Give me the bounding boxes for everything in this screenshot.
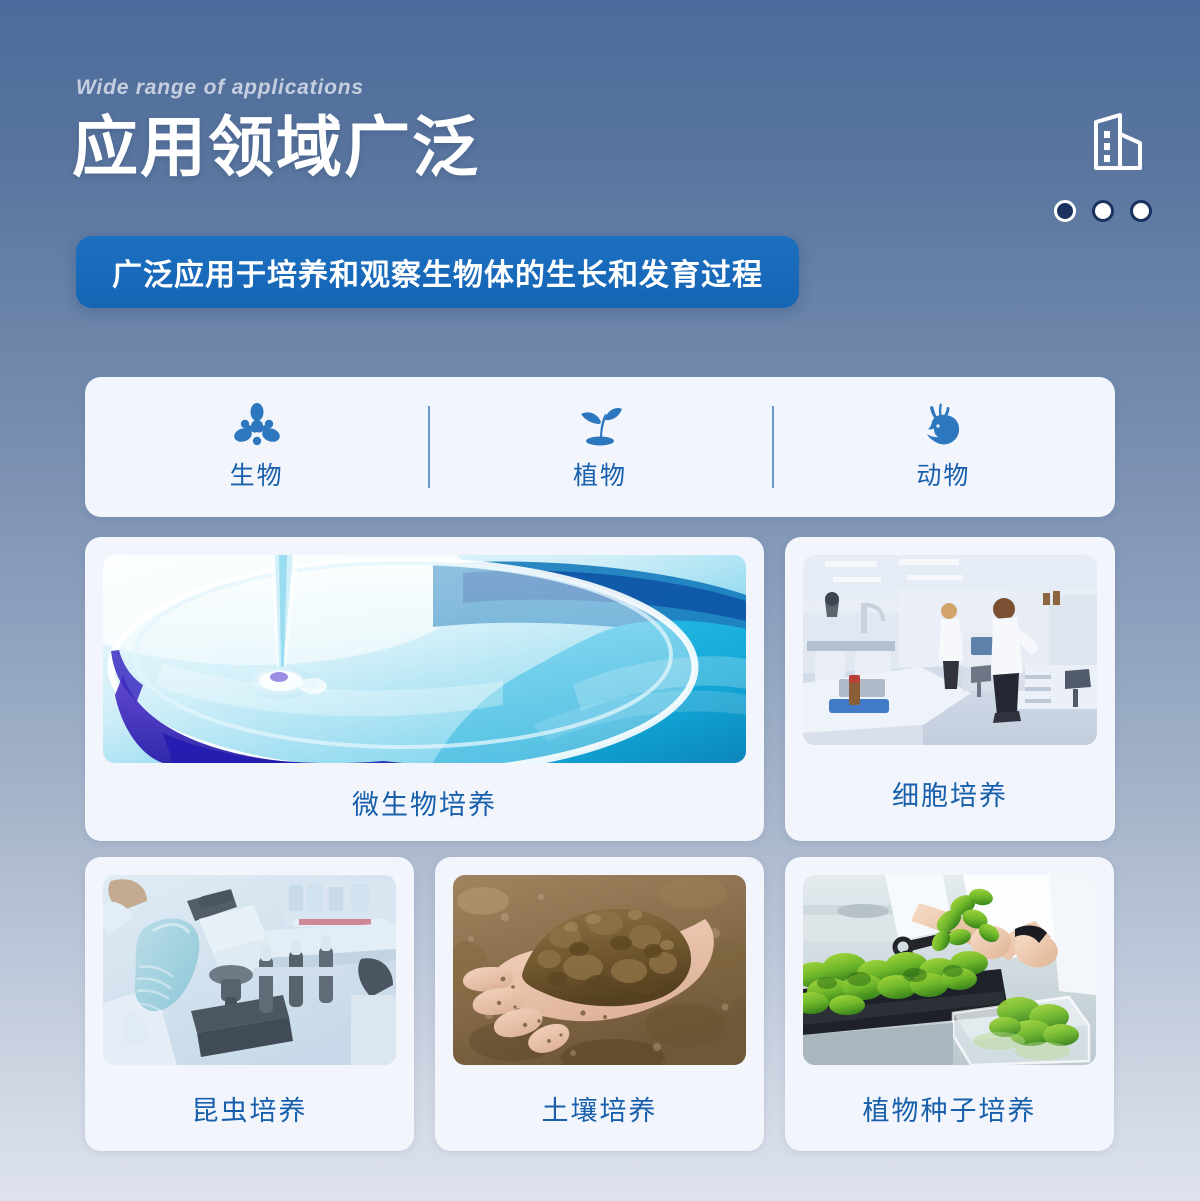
page-header: Wide range of applications 应用领域广泛 广泛应用于培… [0,0,1200,340]
carousel-dot-2[interactable] [1092,200,1114,222]
carousel-dot-1[interactable] [1054,200,1076,222]
gallery-row-top: 微生物培养 [85,537,1115,841]
category-label: 生物 [230,456,284,492]
gallery-tile-soil-culture[interactable]: 土壤培养 [435,857,764,1151]
category-card: 生物 植物 [85,377,1115,517]
category-label: 动物 [916,456,970,492]
category-label: 植物 [573,456,627,492]
sprout-icon [575,402,625,448]
laboratory-interior-researchers-image [803,555,1097,745]
subtitle-banner: 广泛应用于培养和观察生物体的生长和发育过程 [76,236,799,308]
deer-head-icon [918,402,968,448]
seedling-trays-greenhouse-image [803,875,1096,1065]
carousel-dot-3[interactable] [1130,200,1152,222]
gallery-tile-label: 植物种子培养 [863,1065,1037,1151]
molecule-icon [232,402,282,448]
eyebrow-text: Wide range of applications [76,76,364,100]
microscope-gloved-hand-image [103,875,396,1065]
gallery-row-bottom: 昆虫培养 [85,857,1115,1151]
category-item-biology[interactable]: 生物 [85,402,428,492]
building-icon [1086,112,1148,174]
gallery-tile-label: 微生物培养 [352,763,497,841]
gallery-tile-label: 细胞培养 [892,745,1008,841]
gallery-tile-label: 昆虫培养 [192,1065,308,1151]
gallery-tile-microbe-culture[interactable]: 微生物培养 [85,537,764,841]
category-item-plant[interactable]: 植物 [428,402,771,492]
category-item-animal[interactable]: 动物 [772,402,1115,492]
carousel-dots[interactable] [1054,200,1152,222]
hand-holding-soil-image [453,875,746,1065]
gallery-tile-insect-culture[interactable]: 昆虫培养 [85,857,414,1151]
page-title: 应用领域广泛 [72,112,480,183]
petri-dish-pipette-blue-liquid-image [103,555,746,763]
gallery-tile-label: 土壤培养 [542,1065,658,1151]
subtitle-banner-text: 广泛应用于培养和观察生物体的生长和发育过程 [112,250,763,294]
gallery-tile-plant-seed-culture[interactable]: 植物种子培养 [785,857,1114,1151]
gallery-tile-cell-culture[interactable]: 细胞培养 [785,537,1115,841]
application-areas-page: Wide range of applications 应用领域广泛 广泛应用于培… [0,0,1200,1201]
